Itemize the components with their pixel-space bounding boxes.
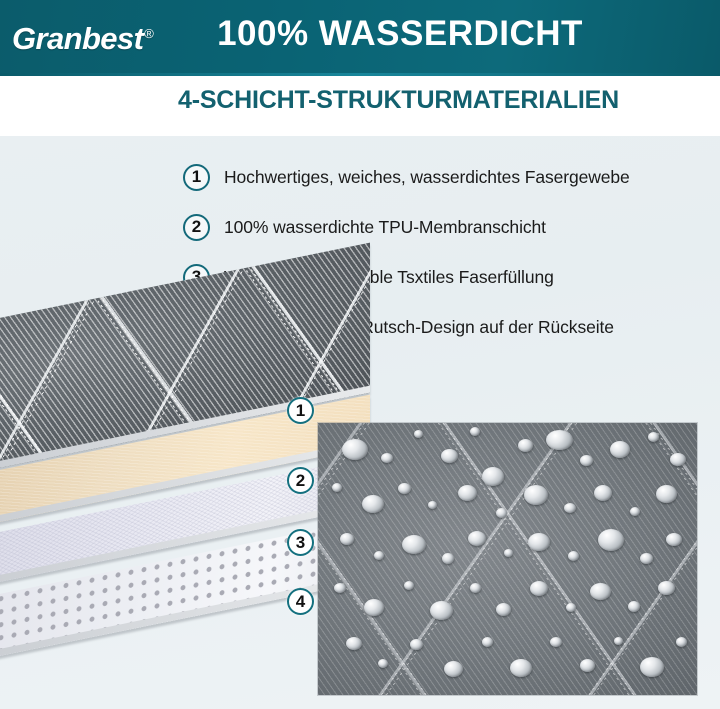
water-droplet [658,581,675,595]
water-droplet [594,485,612,501]
water-droplet [546,430,573,450]
page-title: 4-SCHICHT-STRUKTURMATERIALIEN [178,86,619,115]
water-droplet [524,485,548,505]
water-droplet [566,603,576,612]
water-droplet [580,455,593,466]
water-droplet [590,583,611,600]
water-droplet [670,453,686,466]
water-droplet [656,485,677,503]
product-infographic: Granbest® 100% WASSERDICHT 4-SCHICHT-STR… [0,0,720,709]
water-droplet [346,637,362,650]
water-droplet [564,503,576,513]
water-droplet [441,449,458,463]
water-droplet [504,549,513,557]
water-droplet [402,535,426,554]
water-droplet [410,639,423,650]
water-droplet [342,439,368,460]
water-droplet [610,441,630,458]
water-droplet [398,483,411,494]
water-droplet [580,659,595,672]
water-droplet [444,661,463,677]
water-droplet [332,483,342,492]
water-droplet [528,533,550,551]
water-droplet [340,533,354,545]
water-droplet [496,508,507,518]
water-droplet [598,529,624,551]
water-droplet [362,495,384,513]
water-droplet [568,551,579,561]
water-droplet [676,637,687,647]
water-droplet [364,599,384,616]
water-droplet [442,553,454,564]
list-item: 1 Hochwertiges, weiches, wasserdichtes F… [183,152,713,202]
water-droplet [430,601,453,620]
water-droplet [381,453,393,463]
feature-label: 100% wasserdichte TPU-Membranschicht [224,217,546,238]
waterproof-fabric-photo [318,423,697,695]
water-droplet [458,485,477,501]
header-title: 100% WASSERDICHT [0,14,720,54]
feature-number-badge: 1 [183,164,210,191]
water-droplet [640,657,664,677]
water-droplet [482,467,504,486]
layer-stack-diagram [0,300,370,709]
water-droplet [640,553,653,564]
water-droplet [530,581,548,596]
water-droplet [648,432,659,442]
water-droplet [630,507,640,516]
water-droplet [378,659,388,668]
water-droplet [550,637,562,647]
list-item: 2 100% wasserdichte TPU-Membranschicht [183,202,713,252]
water-droplet [518,439,533,452]
slab-edge [0,574,370,662]
water-droplet [374,551,384,560]
water-droplet [628,601,640,612]
water-droplet [468,531,486,546]
water-droplet [666,533,682,546]
water-droplet [334,583,346,593]
layer-number-badge-2: 2 [287,467,314,494]
feature-number-badge: 2 [183,214,210,241]
water-droplet [404,581,414,590]
water-droplet [414,430,423,438]
water-droplet [482,637,493,647]
header-banner: Granbest® 100% WASSERDICHT [0,0,720,76]
layer-number-badge-1: 1 [287,397,314,424]
layer-number-badge-4: 4 [287,588,314,615]
water-droplet [496,603,511,616]
water-droplet [470,583,481,593]
water-droplet [428,501,437,509]
water-droplet [614,637,623,645]
feature-label: Hochwertiges, weiches, wasserdichtes Fas… [224,167,630,188]
water-droplet [510,659,532,677]
water-droplet [470,427,480,436]
layer-number-badge-3: 3 [287,529,314,556]
